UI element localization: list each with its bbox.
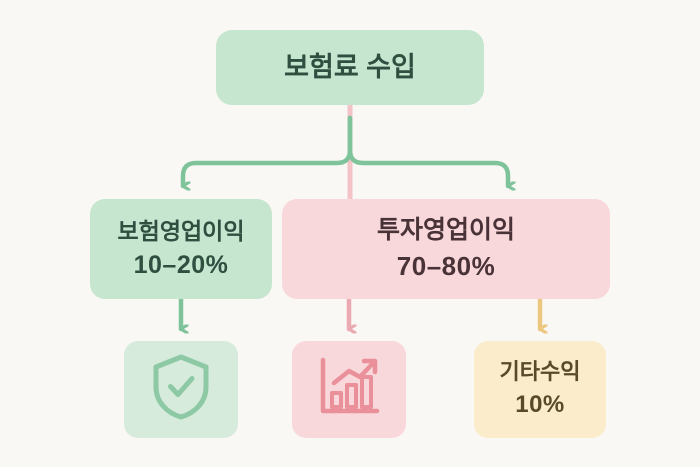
node-investment-label: 투자영업이익 (377, 215, 515, 246)
node-premium-income-label: 보험료 수입 (284, 51, 416, 84)
bar-chart-up-icon (316, 355, 382, 425)
node-insurance-label: 보험영업이익 (118, 217, 245, 245)
leaf-other-income-label: 기타수익 (500, 359, 581, 386)
node-insurance-value: 10–20% (134, 250, 229, 281)
node-investment-value: 70–80% (397, 251, 495, 283)
node-premium-income[interactable]: 보험료 수입 (216, 30, 484, 105)
leaf-other-income-value: 10% (515, 390, 565, 419)
leaf-shield-check[interactable] (124, 341, 238, 438)
leaf-other-income[interactable]: 기타수익 10% (474, 341, 606, 438)
edge-root-to-insurance (183, 118, 350, 186)
edge-root-to-right (350, 118, 508, 186)
node-insurance-operating-profit[interactable]: 보험영업이익 10–20% (90, 199, 272, 299)
shield-check-icon (150, 353, 212, 427)
leaf-growth-chart[interactable] (292, 341, 406, 438)
diagram-canvas: 보험료 수입 보험영업이익 10–20% 투자영업이익 70–80% (0, 0, 700, 467)
node-investment-operating-profit[interactable]: 투자영업이익 70–80% (282, 199, 610, 299)
